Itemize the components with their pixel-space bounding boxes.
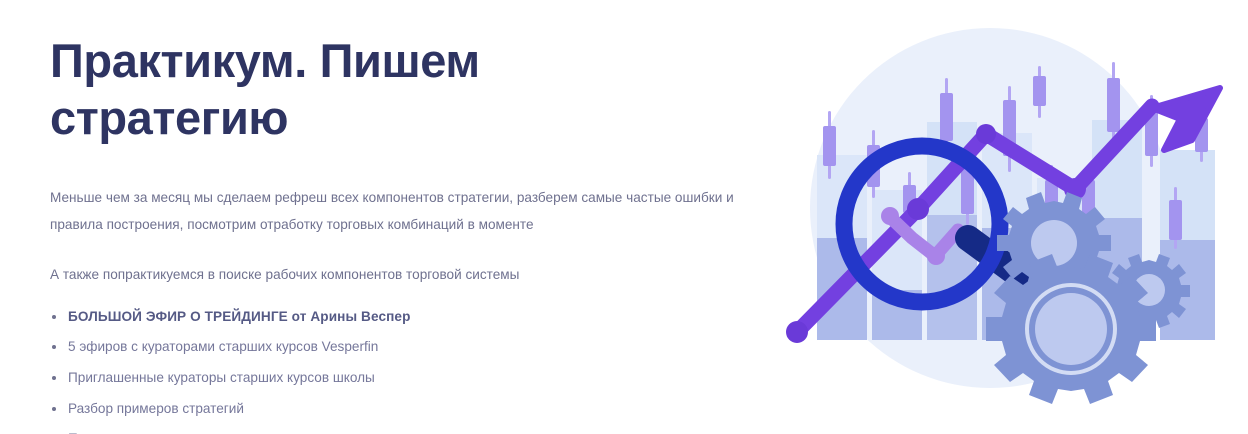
list-item: Приглашенные кураторы старших курсов шко… [50,371,750,385]
trading-analytics-illustration [760,0,1248,434]
list-item-label: БОЛЬШОЙ ЭФИР О ТРЕЙДИНГЕ от Арины Веспер [68,309,411,324]
hero-paragraph-2: А также попрактикуемся в поиске рабочих … [50,261,740,289]
list-item-label: Разбор примеров стратегий [68,401,244,416]
list-item: 5 эфиров с кураторами старших курсов Ves… [50,340,750,354]
hero-section: Практикум. Пишем стратегию Меньше чем за… [0,0,1248,434]
list-item-label: Приглашенные кураторы старших курсов шко… [68,370,375,385]
hero-paragraph-1: Меньше чем за месяц мы сделаем рефреш вс… [50,184,740,239]
list-item-label: 5 эфиров с кураторами старших курсов Ves… [68,339,378,354]
page-title: Практикум. Пишем стратегию [50,32,570,147]
list-item: Разбор примеров стратегий [50,402,750,416]
hero-feature-list: БОЛЬШОЙ ЭФИР О ТРЕЙДИНГЕ от Арины Веспер… [50,310,750,434]
list-item: БОЛЬШОЙ ЭФИР О ТРЕЙДИНГЕ от Арины Веспер [50,310,750,324]
hero-text-column: Практикум. Пишем стратегию Меньше чем за… [50,32,750,434]
